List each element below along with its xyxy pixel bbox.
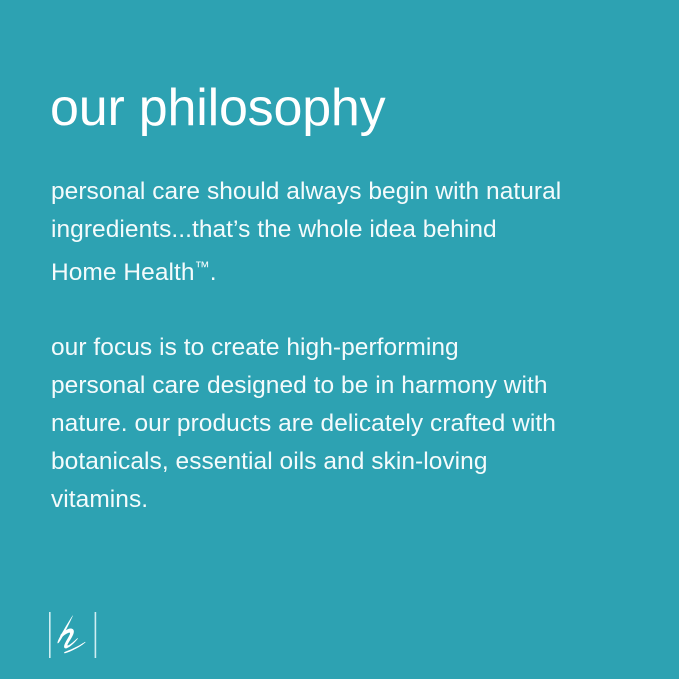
paragraph-line: Home Health™. — [51, 249, 611, 292]
paragraph-line: our focus is to create high-performing — [51, 329, 611, 367]
philosophy-body: personal care should always begin with n… — [51, 148, 611, 544]
sentence-period: . — [210, 258, 217, 285]
page-title: our philosophy — [50, 79, 650, 137]
logo-left-rule — [49, 612, 51, 658]
brand-name-text: Home Health — [51, 258, 195, 285]
paragraph-line: botanicals, essential oils and skin-lovi… — [51, 443, 611, 481]
paragraph-line: nature. our products are delicately craf… — [51, 405, 611, 443]
logo-stroke-shoulder — [60, 628, 78, 648]
home-health-script-h-icon — [46, 606, 102, 664]
home-health-logo — [46, 606, 102, 664]
logo-stroke-tail — [75, 642, 85, 649]
paragraph-line: vitamins. — [51, 481, 611, 519]
trademark-icon: ™ — [195, 259, 210, 276]
philosophy-card: our philosophy personal care should alwa… — [0, 0, 679, 679]
paragraph-intro: personal care should always begin with n… — [51, 173, 611, 292]
paragraph-focus: our focus is to create high-performing p… — [51, 329, 611, 519]
paragraph-line: personal care designed to be in harmony … — [51, 367, 611, 405]
paragraph-line: personal care should always begin with n… — [51, 173, 611, 211]
logo-right-rule — [95, 612, 97, 658]
paragraph-line: ingredients...that’s the whole idea behi… — [51, 211, 611, 249]
